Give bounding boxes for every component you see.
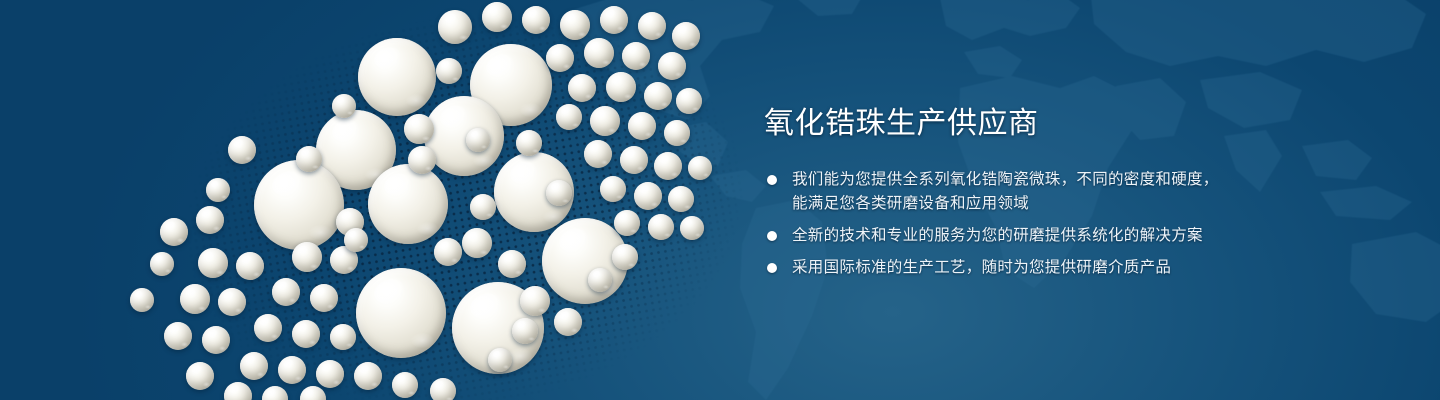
dot-bullet-icon — [767, 263, 777, 273]
bullet-line: 采用国际标准的生产工艺，随时为您提供研磨介质产品 — [792, 256, 1324, 280]
banner-copy: 氧化锆珠生产供应商 我们能为您提供全系列氧化锆陶瓷微珠，不同的密度和硬度， 能满… — [764, 106, 1324, 280]
list-item: 我们能为您提供全系列氧化锆陶瓷微珠，不同的密度和硬度， 能满足您各类研磨设备和应… — [764, 168, 1324, 216]
dot-bullet-icon — [767, 175, 777, 185]
bullet-line: 能满足您各类研磨设备和应用领域 — [792, 192, 1324, 216]
bullet-line: 我们能为您提供全系列氧化锆陶瓷微珠，不同的密度和硬度， — [792, 168, 1324, 192]
zirconia-beads-image — [0, 0, 760, 400]
list-item: 全新的技术和专业的服务为您的研磨提供系统化的解决方案 — [764, 224, 1324, 248]
dot-bullet-icon — [767, 231, 777, 241]
page-title: 氧化锆珠生产供应商 — [764, 106, 1324, 142]
hero-banner: 氧化锆珠生产供应商 我们能为您提供全系列氧化锆陶瓷微珠，不同的密度和硬度， 能满… — [0, 0, 1440, 400]
list-item: 采用国际标准的生产工艺，随时为您提供研磨介质产品 — [764, 256, 1324, 280]
bullet-line: 全新的技术和专业的服务为您的研磨提供系统化的解决方案 — [792, 224, 1324, 248]
feature-bullet-list: 我们能为您提供全系列氧化锆陶瓷微珠，不同的密度和硬度， 能满足您各类研磨设备和应… — [764, 168, 1324, 280]
